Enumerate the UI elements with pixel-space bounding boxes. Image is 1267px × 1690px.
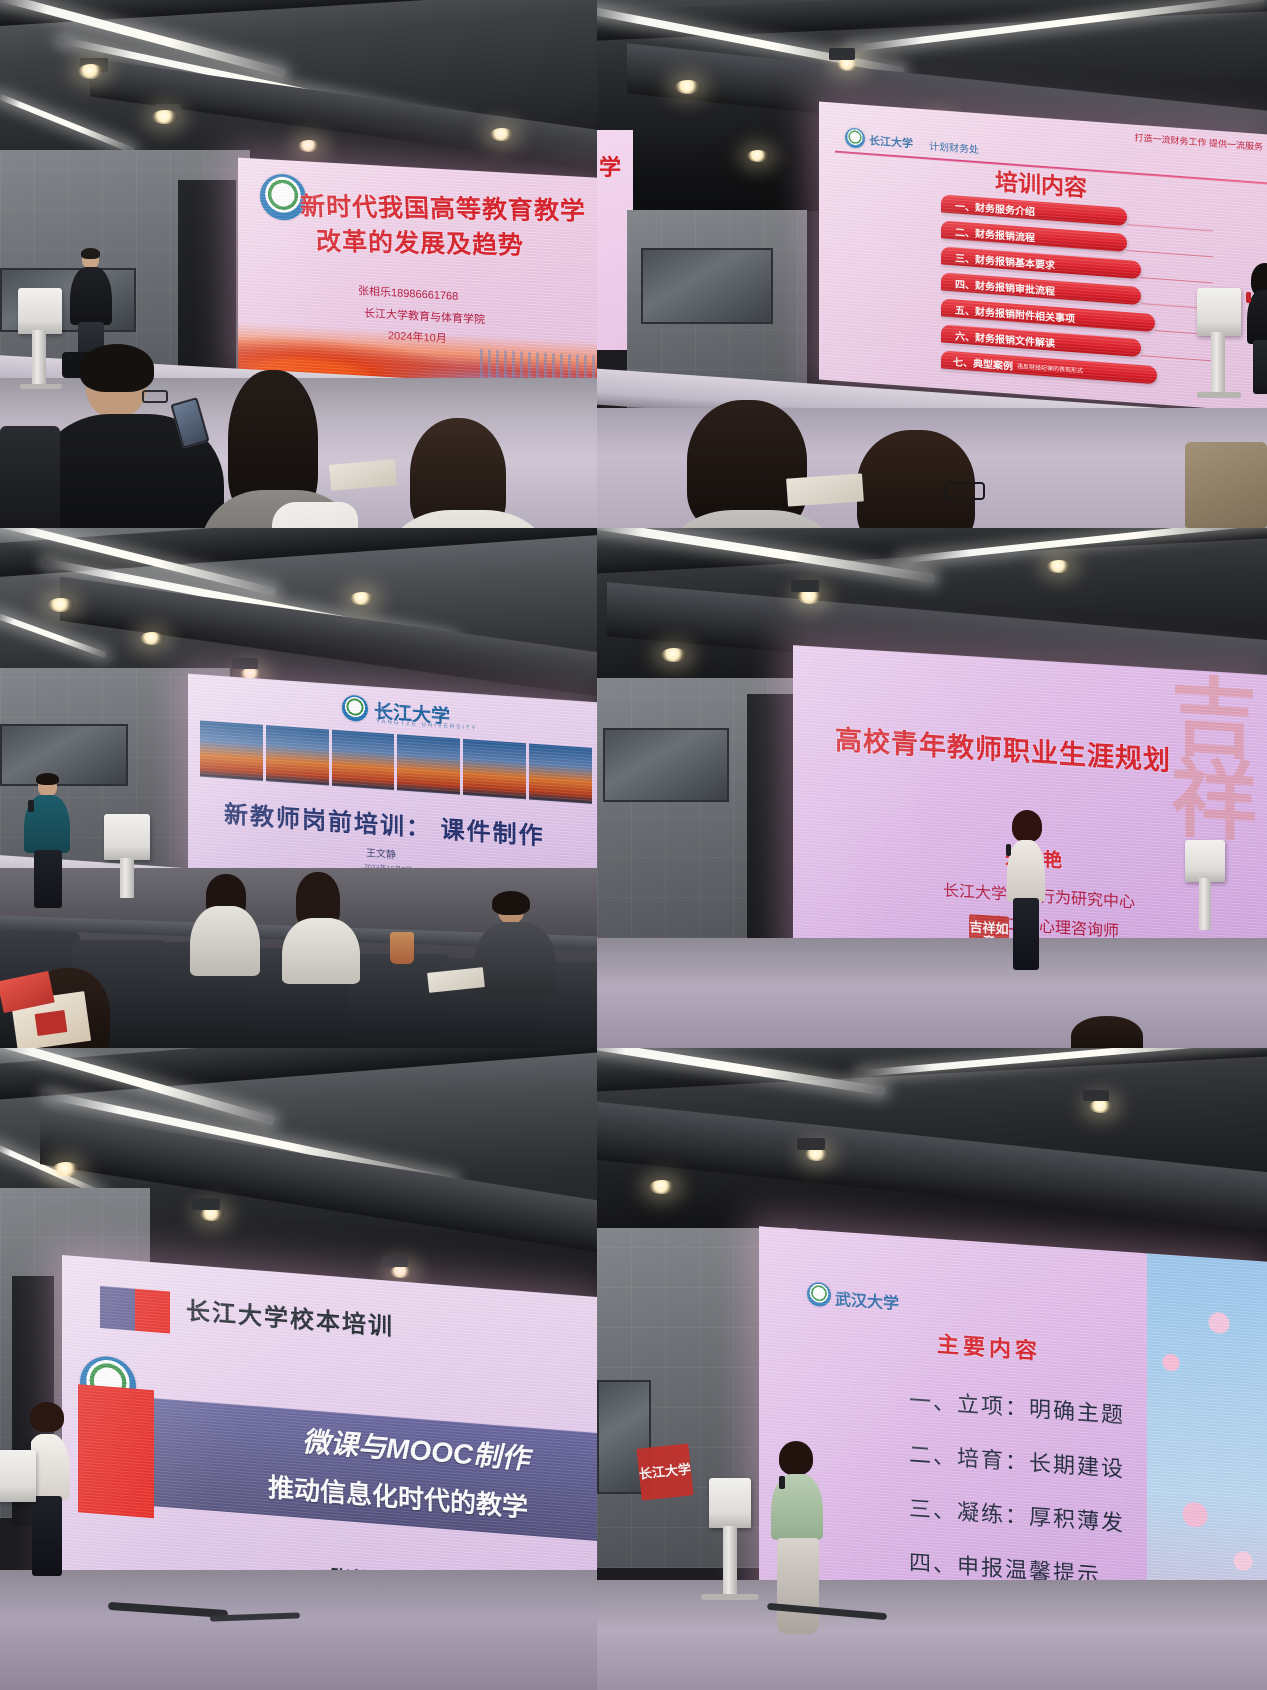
panel-4-watermark: 吉祥: [1171, 677, 1257, 846]
panel-1-led-screen: 新时代我国高等教育教学 改革的发展及趋势 张相乐18986661768 长江大学…: [238, 158, 597, 391]
item-label: 一、财务服务介绍: [941, 196, 1035, 218]
panel-2-photo[interactable]: 学 打造一流财务工作 提供一流服务 长江大学 计划财务处 培训内容 一、财务服务…: [597, 0, 1267, 528]
panel-5-podium: [0, 1450, 36, 1502]
panel-5-flag-graphic: [100, 1286, 170, 1334]
university-seal-icon: [845, 127, 865, 148]
panel-5-photo[interactable]: 长江大学校本培训 微课与MOOC制作 推动信息化时代的教学 张静 长江大学物电学…: [0, 1048, 597, 1690]
university-seal-icon: [807, 1282, 831, 1308]
item-label: 三、财务报销基本要求: [941, 248, 1055, 271]
panel-2-department: 计划财务处: [929, 138, 979, 157]
panel-3-title: 新教师岗前培训： 课件制作: [224, 794, 545, 851]
panel-5-header: 长江大学校本培训: [186, 1291, 394, 1342]
panel-6-photo[interactable]: 武汉大学 主要内容 一、立项：明确主题 二、培育：长期建设 三、凝练：厚积薄发 …: [597, 1048, 1267, 1690]
panel-2-backpack: [1185, 442, 1267, 528]
panel-1-presenter: 张相乐18986661768: [358, 282, 458, 304]
panel-6-content-item: 三、凝练：厚积薄发: [909, 1491, 1125, 1538]
hall-window: [603, 728, 729, 802]
panel-3-presenter: 王文静: [366, 844, 396, 861]
hall-window: [641, 248, 773, 324]
panel-4-podium: [1185, 840, 1225, 882]
panel-2-org-logo: 长江大学: [869, 132, 913, 151]
item-label: 七、典型案例: [941, 352, 1013, 372]
panel-3-photo[interactable]: 长江大学 YANGTZE UNIVERSITY 新教师岗前培训： 课件制作 王文…: [0, 528, 597, 1048]
panel-1-affiliation: 长江大学教育与体育学院: [364, 305, 485, 328]
panel-3-campus-photo-strip: [200, 721, 592, 804]
item-label: 五、财务报销附件相关事项: [941, 300, 1075, 325]
photo-collage: 新时代我国高等教育教学 改革的发展及趋势 张相乐18986661768 长江大学…: [0, 0, 1267, 1690]
panel-6-org-logo: 武汉大学: [835, 1286, 899, 1314]
hall-window: [0, 724, 128, 786]
panel-4-photo[interactable]: 吉祥 高校青年教师职业生涯规划 郑雪艳 长江大学组织行为研究中心 国家二级心理咨…: [597, 528, 1267, 1048]
panel-6-heading: 主要内容: [937, 1327, 1041, 1366]
panel-2-podium: [1197, 288, 1241, 336]
panel-1-podium: [18, 288, 62, 334]
panel-2-led-screen: 打造一流财务工作 提供一流服务 长江大学 计划财务处 培训内容 一、财务服务介绍…: [819, 101, 1267, 412]
panel-2-content-item: 二、财务报销流程: [941, 220, 1127, 252]
item-note: 违反财经纪律的表现形式: [1013, 360, 1083, 374]
university-seal-icon: [342, 694, 368, 722]
panel-4-title: 高校青年教师职业生涯规划: [835, 718, 1171, 778]
item-label: 四、财务报销审批流程: [941, 274, 1055, 297]
panel-1-photo[interactable]: 新时代我国高等教育教学 改革的发展及趋势 张相乐18986661768 长江大学…: [0, 0, 597, 528]
panel-6-seal-stamp: 长江大学: [636, 1443, 693, 1500]
panel-6-content-item: 一、立项：明确主题: [909, 1383, 1125, 1430]
panel-6-content-item: 二、培育：长期建设: [909, 1437, 1125, 1484]
panel-2-banner: 打造一流财务工作 提供一流服务: [1134, 131, 1263, 153]
panel-6-podium: [709, 1478, 751, 1528]
item-label: 二、财务报销流程: [941, 222, 1035, 244]
panel-1-title-line2: 改革的发展及趋势: [315, 222, 524, 262]
item-label: 六、财务报销文件解读: [941, 326, 1055, 349]
panel-3-led-screen: 长江大学 YANGTZE UNIVERSITY 新教师岗前培训： 课件制作 王文…: [188, 674, 597, 901]
panel-3-podium: [104, 814, 150, 860]
panel-2-heading: 培训内容: [995, 162, 1087, 203]
